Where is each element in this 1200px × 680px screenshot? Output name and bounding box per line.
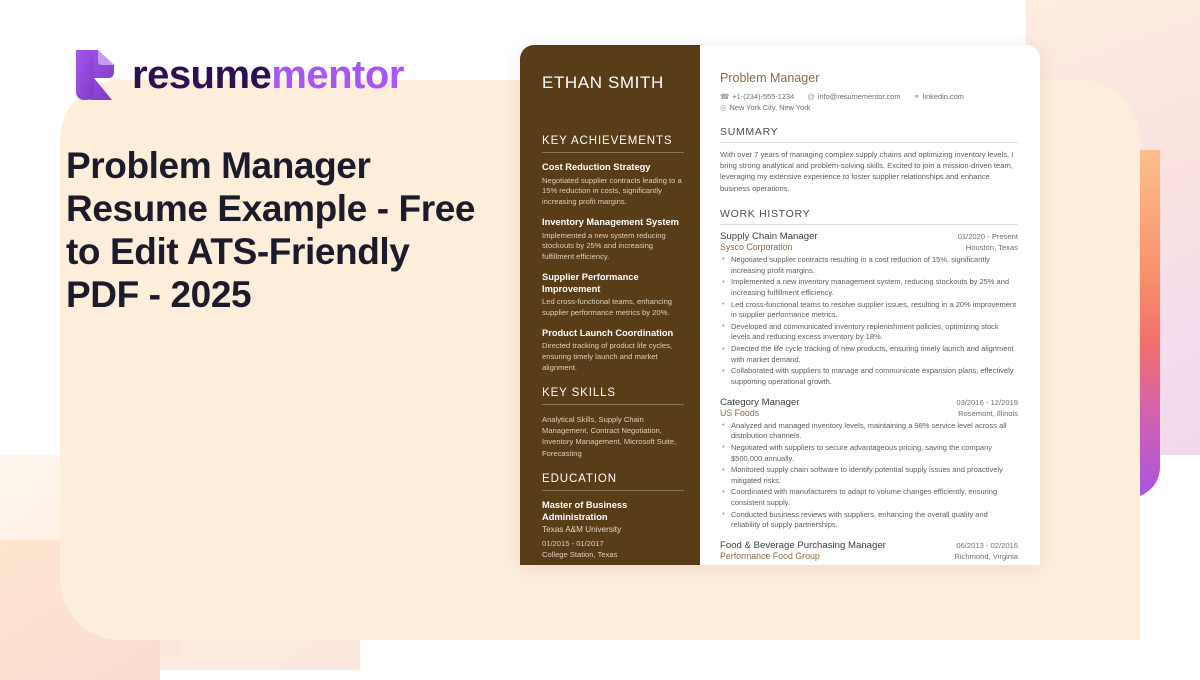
job-bullets: Streamlined sourcing processes, reducing… <box>720 564 1018 565</box>
achievement-desc: Negotiated supplier contracts leading to… <box>542 176 684 208</box>
achievement-item: Supplier Performance Improvement Led cro… <box>542 272 684 319</box>
contact-phone-text: +1-(234)-555-1234 <box>732 92 794 101</box>
divider <box>542 404 684 405</box>
contact-phone: ☎ +1-(234)-555-1234 <box>720 92 794 101</box>
education-dates: 01/2015 - 01/2017 <box>542 539 604 548</box>
education-location: College Station, Texas <box>542 550 617 559</box>
key-achievements-section: KEY ACHIEVEMENTS Cost Reduction Strategy… <box>542 135 684 374</box>
location-pin-icon: ◎ <box>720 104 727 112</box>
achievement-item: Inventory Management System Implemented … <box>542 217 684 263</box>
job-company: Performance Food Group <box>720 551 820 561</box>
job-subheader: Performance Food Group Richmond, Virgini… <box>720 551 1018 561</box>
achievement-title: Inventory Management System <box>542 217 684 229</box>
contact-link-text: linkedin.com <box>923 92 964 101</box>
job-bullet: Negotiated supplier contracts resulting … <box>720 255 1018 276</box>
job-header: Supply Chain Manager 01/2020 - Present <box>720 231 1018 242</box>
divider <box>542 490 684 491</box>
work-history-item: Supply Chain Manager 01/2020 - Present S… <box>720 231 1018 388</box>
education-meta: 01/2015 - 01/2017 College Station, Texas <box>542 539 684 560</box>
job-bullet: Directed the life cycle tracking of new … <box>720 344 1018 365</box>
job-bullets: Negotiated supplier contracts resulting … <box>720 255 1018 388</box>
contact-location: ◎ New York City, New York <box>720 103 810 112</box>
achievement-title: Supplier Performance Improvement <box>542 272 684 295</box>
contact-row: ☎ +1-(234)-555-1234 @ info@resumementor.… <box>720 92 1018 101</box>
job-bullet: Collaborated with suppliers to manage an… <box>720 366 1018 387</box>
job-bullet: Developed and communicated inventory rep… <box>720 322 1018 343</box>
phone-icon: ☎ <box>720 93 729 101</box>
job-header: Category Manager 03/2016 - 12/2019 <box>720 397 1018 408</box>
education-item: Master of Business Administration Texas … <box>542 500 684 560</box>
email-icon: @ <box>807 93 815 101</box>
work-history-item: Food & Beverage Purchasing Manager 06/20… <box>720 540 1018 565</box>
achievement-title: Product Launch Coordination <box>542 328 684 340</box>
key-skills-text: Analytical Skills, Supply Chain Manageme… <box>542 414 684 460</box>
education-degree: Master of Business Administration <box>542 500 684 523</box>
key-skills-section: KEY SKILLS Analytical Skills, Supply Cha… <box>542 387 684 460</box>
job-header: Food & Beverage Purchasing Manager 06/20… <box>720 540 1018 551</box>
contact-email-text: info@resumementor.com <box>818 92 901 101</box>
job-bullet: Analyzed and managed inventory levels, m… <box>720 421 1018 442</box>
brand-word-mentor: mentor <box>271 53 404 97</box>
resume-main-column: Problem Manager ☎ +1-(234)-555-1234 @ in… <box>700 45 1040 565</box>
job-bullet: Led cross-functional teams to resolve su… <box>720 300 1018 321</box>
divider <box>720 224 1018 225</box>
resume-sidebar: ETHAN SMITH KEY ACHIEVEMENTS Cost Reduct… <box>520 45 700 565</box>
brand-wordmark: resumementor <box>132 53 404 98</box>
section-heading-summary: SUMMARY <box>720 126 1018 138</box>
contact-email: @ info@resumementor.com <box>807 92 900 101</box>
job-bullets: Analyzed and managed inventory levels, m… <box>720 421 1018 531</box>
job-dates: 01/2020 - Present <box>958 232 1018 241</box>
job-bullet: Negotiated with suppliers to secure adva… <box>720 443 1018 464</box>
work-history-item: Category Manager 03/2016 - 12/2019 US Fo… <box>720 397 1018 531</box>
job-bullet: Implemented a new inventory management s… <box>720 277 1018 298</box>
education-school: Texas A&M University <box>542 525 684 534</box>
job-company: Sysco Corporation <box>720 242 792 252</box>
brand-logo[interactable]: resumementor <box>68 50 404 100</box>
section-heading-work-history: WORK HISTORY <box>720 208 1018 220</box>
job-dates: 06/2013 - 02/2016 <box>956 541 1018 550</box>
achievement-item: Cost Reduction Strategy Negotiated suppl… <box>542 162 684 208</box>
job-company: US Foods <box>720 408 759 418</box>
job-location: Houston, Texas <box>966 243 1018 252</box>
job-subheader: Sysco Corporation Houston, Texas <box>720 242 1018 252</box>
job-bullet: Streamlined sourcing processes, reducing… <box>720 564 1018 565</box>
job-position: Supply Chain Manager <box>720 231 818 242</box>
job-subheader: US Foods Rosemont, Illinois <box>720 408 1018 418</box>
contact-location-text: New York City, New York <box>730 103 811 112</box>
job-bullet: Coordinated with manufacturers to adapt … <box>720 487 1018 508</box>
section-heading-key-achievements: KEY ACHIEVEMENTS <box>542 135 684 147</box>
brand-word-resume: resume <box>132 53 271 97</box>
job-dates: 03/2016 - 12/2019 <box>956 398 1018 407</box>
job-bullet: Monitored supply chain software to ident… <box>720 465 1018 486</box>
education-section: EDUCATION Master of Business Administrat… <box>542 473 684 565</box>
achievement-desc: Implemented a new system reducing stocko… <box>542 231 684 263</box>
job-location: Richmond, Virginia <box>954 552 1018 561</box>
location-row: ◎ New York City, New York <box>720 103 1018 112</box>
section-heading-key-skills: KEY SKILLS <box>542 387 684 399</box>
job-bullet: Conducted business reviews with supplier… <box>720 510 1018 531</box>
candidate-name: ETHAN SMITH <box>542 73 684 93</box>
achievement-desc: Led cross-functional teams, enhancing su… <box>542 297 684 319</box>
divider <box>720 142 1018 143</box>
achievement-desc: Directed tracking of product life cycles… <box>542 341 684 373</box>
job-position: Category Manager <box>720 397 799 408</box>
resume-document-icon <box>68 50 114 100</box>
job-position: Food & Beverage Purchasing Manager <box>720 540 886 551</box>
divider <box>542 152 684 153</box>
section-heading-education: EDUCATION <box>542 473 684 485</box>
summary-text: With over 7 years of managing complex su… <box>720 149 1018 194</box>
link-icon: ⚭ <box>913 93 919 101</box>
page-headline: Problem Manager Resume Example - Free to… <box>66 145 486 317</box>
contact-link: ⚭ linkedin.com <box>913 92 963 101</box>
job-location: Rosemont, Illinois <box>958 409 1018 418</box>
achievement-title: Cost Reduction Strategy <box>542 162 684 174</box>
resume-job-title: Problem Manager <box>720 71 1018 85</box>
achievement-item: Product Launch Coordination Directed tra… <box>542 328 684 374</box>
resume-preview[interactable]: ETHAN SMITH KEY ACHIEVEMENTS Cost Reduct… <box>520 45 1040 565</box>
